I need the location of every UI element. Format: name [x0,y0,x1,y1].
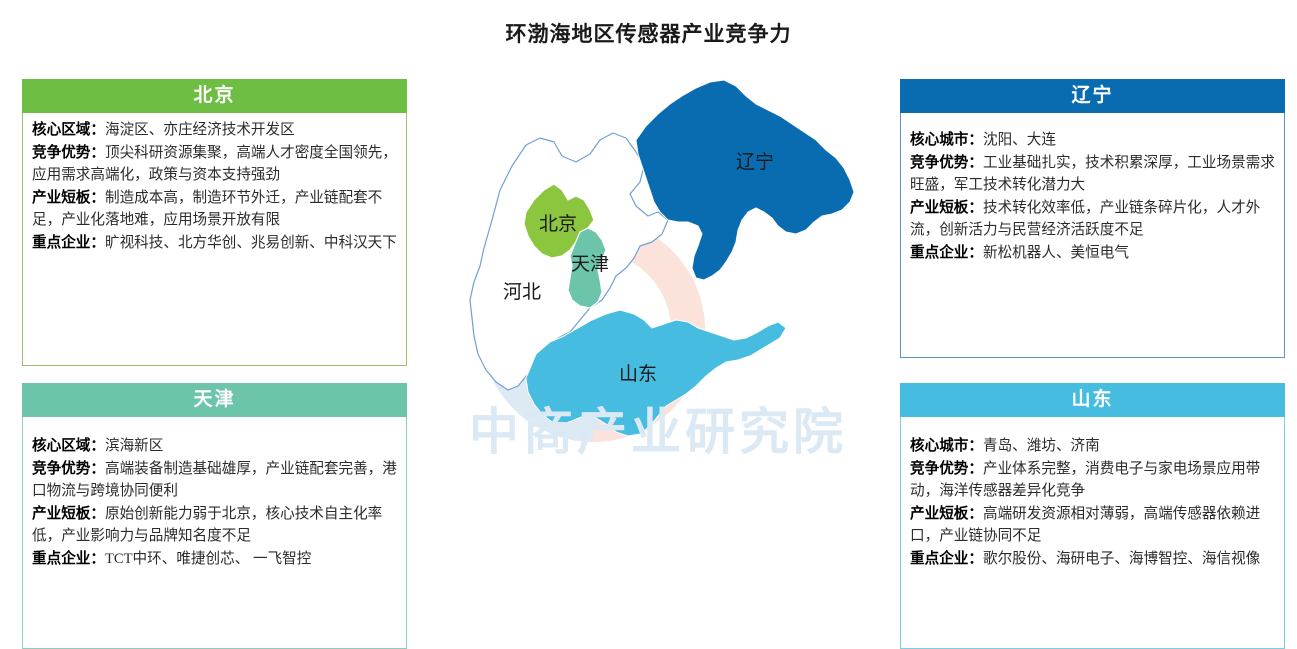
row-text: 新松机器人、美恒电气 [983,245,1129,261]
card-row: 竞争优势：产业体系完整，消费电子与家电场景应用带动，海洋传感器差异化竞争 [910,458,1276,503]
card-row: 重点企业：TCT中环、唯捷创芯、 一飞智控 [32,548,398,571]
card-row: 重点企业：歌尔股份、海研电子、海博智控、海信视像 [910,548,1276,571]
map-svg: 辽宁 北京 天津 河北 山东 [430,70,890,470]
province-card-shandong: 山东 核心城市：青岛、潍坊、济南 竞争优势：产业体系完整，消费电子与家电场景应用… [900,383,1285,649]
row-label: 重点企业： [32,235,105,251]
card-row: 核心区域：海淀区、亦庄经济技术开发区 [32,119,398,142]
row-label: 核心区域： [32,122,105,138]
row-label: 核心区域： [32,438,105,454]
province-card-liaoning: 辽宁 核心城市：沈阳、大连 竞争优势：工业基础扎实，技术积累深厚，工业场景需求旺… [900,79,1285,358]
card-row: 重点企业：新松机器人、美恒电气 [910,242,1276,265]
row-text: 青岛、潍坊、济南 [983,438,1100,454]
row-text: 歌尔股份、海研电子、海博智控、海信视像 [983,551,1260,567]
row-label: 产业短板： [32,506,105,522]
map-label-hebei: 河北 [503,281,541,303]
row-label: 重点企业： [910,551,983,567]
card-body-tianjin: 核心区域：滨海新区 竞争优势：高端装备制造基础雄厚，产业链配套完善，港口物流与跨… [22,417,407,649]
map-region-liaoning[interactable] [636,80,854,280]
map-label-shandong: 山东 [619,363,657,385]
row-label: 产业短板： [910,506,983,522]
card-row: 核心区域：滨海新区 [32,435,398,458]
card-body-beijing: 核心区域：海淀区、亦庄经济技术开发区 竞争优势：顶尖科研资源集聚，高端人才密度全… [22,113,407,366]
row-text: 沈阳、大连 [983,132,1056,148]
row-label: 竞争优势： [910,155,983,171]
card-row: 产业短板：原始创新能力弱于北京，核心技术自主化率低，产业影响力与品牌知名度不足 [32,503,398,548]
card-header-beijing: 北京 [22,79,407,113]
row-label: 核心城市： [910,132,983,148]
card-row: 产业短板：高端研发资源相对薄弱，高端传感器依赖进口，产业链协同不足 [910,503,1276,548]
row-label: 重点企业： [32,551,105,567]
card-row: 产业短板：制造成本高，制造环节外迁，产业链配套不足，产业化落地难，应用场景开放有… [32,187,398,232]
row-label: 重点企业： [910,245,983,261]
row-label: 竞争优势： [32,461,105,477]
row-label: 竞争优势： [910,461,983,477]
map-label-beijing: 北京 [539,213,577,235]
row-label: 竞争优势： [32,145,105,161]
card-row: 竞争优势：顶尖科研资源集聚，高端人才密度全国领先，应用需求高端化，政策与资本支持… [32,142,398,187]
card-row: 产业短板：技术转化效率低，产业链条碎片化，人才外流，创新活力与民营经济活跃度不足 [910,197,1276,242]
region-map: 辽宁 北京 天津 河北 山东 [430,70,890,470]
card-row: 竞争优势：高端装备制造基础雄厚，产业链配套完善，港口物流与跨境协同便利 [32,458,398,503]
map-label-liaoning: 辽宁 [736,151,774,173]
card-row: 竞争优势：工业基础扎实，技术积累深厚，工业场景需求旺盛，军工技术转化潜力大 [910,152,1276,197]
province-card-beijing: 北京 核心区域：海淀区、亦庄经济技术开发区 竞争优势：顶尖科研资源集聚，高端人才… [22,79,407,366]
row-text: 滨海新区 [105,438,163,454]
map-label-tianjin: 天津 [571,253,609,275]
row-text: 海淀区、亦庄经济技术开发区 [105,122,295,138]
row-label: 核心城市： [910,438,983,454]
card-row: 核心城市：沈阳、大连 [910,129,1276,152]
card-body-shandong: 核心城市：青岛、潍坊、济南 竞争优势：产业体系完整，消费电子与家电场景应用带动，… [900,417,1285,649]
card-header-liaoning: 辽宁 [900,79,1285,113]
page-title: 环渤海地区传感器产业竞争力 [0,18,1297,48]
row-label: 产业短板： [32,190,105,206]
card-row: 重点企业：旷视科技、北方华创、兆易创新、中科汉天下 [32,232,398,255]
card-body-liaoning: 核心城市：沈阳、大连 竞争优势：工业基础扎实，技术积累深厚，工业场景需求旺盛，军… [900,113,1285,358]
province-card-tianjin: 天津 核心区域：滨海新区 竞争优势：高端装备制造基础雄厚，产业链配套完善，港口物… [22,383,407,649]
row-text: TCT中环、唯捷创芯、 一飞智控 [105,551,311,567]
card-header-tianjin: 天津 [22,383,407,417]
row-text: 旷视科技、北方华创、兆易创新、中科汉天下 [105,235,397,251]
row-label: 产业短板： [910,200,983,216]
card-header-shandong: 山东 [900,383,1285,417]
card-row: 核心城市：青岛、潍坊、济南 [910,435,1276,458]
